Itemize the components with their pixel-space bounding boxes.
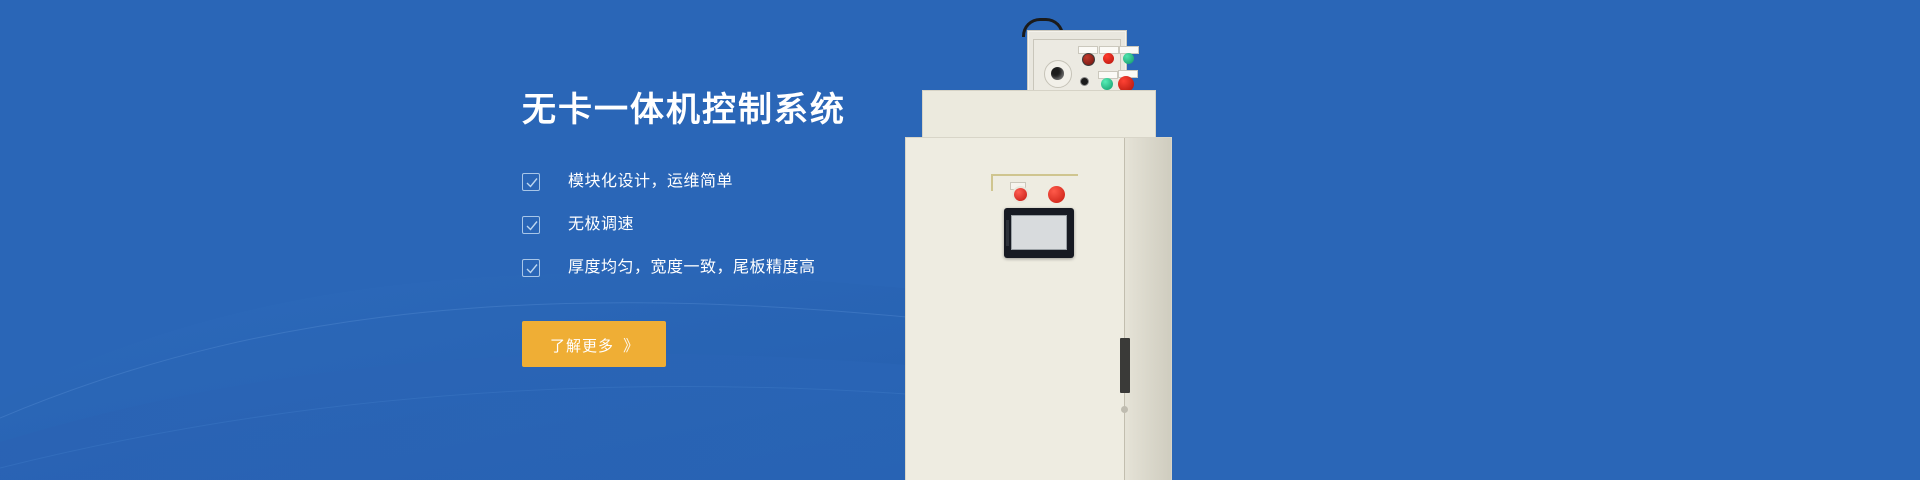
cabinet-lock [1121,406,1128,413]
control-cabinet-photo [900,0,1320,480]
checkbox-check-icon [522,216,540,234]
learn-more-label: 了解更多 [550,338,614,355]
control-panel-face [1033,39,1121,92]
learn-more-button[interactable]: 了解更多》 [522,321,666,367]
feature-text: 无极调速 [568,213,634,237]
indicator-dark-red [1082,53,1095,66]
hmi-side-keys [1006,220,1009,246]
feature-text: 模块化设计，运维简单 [568,170,733,194]
button-green [1101,78,1113,90]
cabinet-vent [1120,338,1130,393]
indicator-red-small [1014,188,1027,201]
hmi-screen [1011,215,1067,250]
cabinet-body [905,137,1172,480]
chevron-right-icon: 》 [623,338,640,355]
indicator-green [1123,53,1134,64]
feature-text: 厚度均匀，宽度一致，尾板精度高 [568,256,816,280]
cabinet-side-shading [1125,138,1171,480]
checkbox-check-icon [522,173,540,191]
cabinet-top-section [922,90,1156,140]
rotary-selector-knob [1044,60,1072,88]
checkbox-check-icon [522,259,540,277]
hero-banner: 无卡一体机控制系统 模块化设计，运维简单 无极调速 [0,0,1920,480]
indicator-red [1103,53,1114,64]
control-panel-box [1027,30,1127,97]
hmi-touchscreen [1004,208,1074,258]
button-black-small [1080,77,1089,86]
emergency-stop-button [1048,186,1065,203]
panel-trim [991,174,1078,191]
